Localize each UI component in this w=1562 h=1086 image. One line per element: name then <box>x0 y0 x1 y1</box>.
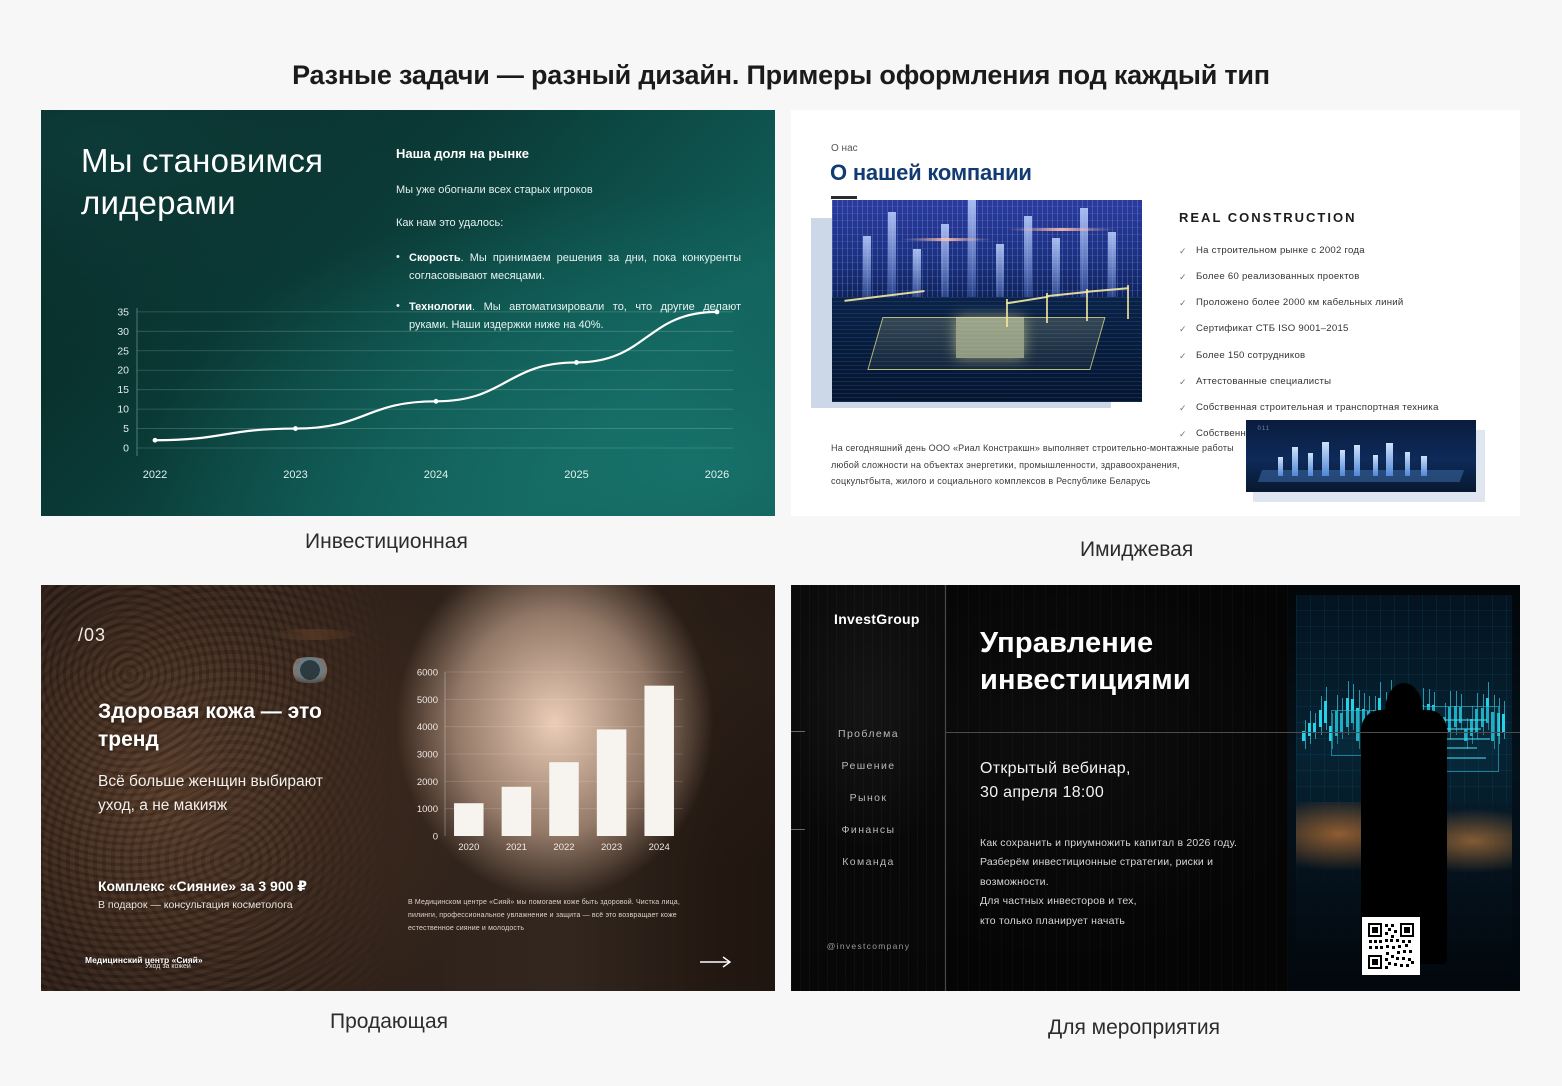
hero-building <box>941 224 949 305</box>
data-point <box>153 438 158 443</box>
slide2-hero-image-energy-network <box>832 200 1142 402</box>
slide4-brand-logo: InvestGroup <box>834 611 920 627</box>
bar-chart-svg: 0100020003000400050006000202020212022202… <box>405 660 690 870</box>
y-axis-tick-label: 5000 <box>417 695 438 706</box>
candle-body <box>1313 723 1316 732</box>
y-axis-tick-label: 20 <box>117 365 129 377</box>
slide4-event-time: Открытый вебинар, 30 апреля 18:00 <box>980 757 1131 805</box>
x-axis-tick-label: 2020 <box>458 842 479 853</box>
caption-event: Для мероприятия <box>1048 1016 1220 1040</box>
y-axis-tick-label: 1000 <box>417 804 438 815</box>
slide1-line-chart: 0510152025303520222023202420252026 <box>93 300 743 485</box>
hero-building <box>888 212 896 305</box>
slide4-nav-item[interactable]: Рынок <box>791 792 946 804</box>
slide4-tick-mark <box>791 829 805 830</box>
caption-image-corporate: Имиджевая <box>1080 538 1193 562</box>
qr-code-icon[interactable] <box>1362 917 1420 975</box>
page-title: Разные задачи — разный дизайн. Примеры о… <box>0 60 1562 91</box>
slide4-nav-list[interactable]: ПроблемаРешениеРынокФинансыКоманда <box>791 728 946 888</box>
bar <box>644 686 674 836</box>
slide3-paragraph: Всё больше женщин выбирают уход, а не ма… <box>98 770 333 819</box>
slide3-offer: Комплекс «Сияние» за 3 900 ₽ <box>98 878 307 895</box>
thumb-building <box>1373 455 1378 477</box>
presentation-examples-page: Разные задачи — разный дизайн. Примеры о… <box>0 0 1562 1086</box>
caption-investment: Инвестиционная <box>305 530 468 554</box>
thumb-code-label: 011 <box>1258 426 1271 432</box>
hero-building <box>1108 232 1116 305</box>
bar <box>597 729 627 836</box>
x-axis-tick-label: 2021 <box>506 842 527 853</box>
hero-building <box>996 244 1004 305</box>
slide2-thumbnail-city-model: 011 <box>1246 420 1476 492</box>
slide2-facts-column: REAL CONSTRUCTION На строительном рынке … <box>1179 210 1499 454</box>
slide3-section-number: /03 <box>78 625 106 646</box>
slide2-fact-item: Сертификат СТБ ISO 9001–2015 <box>1179 323 1499 336</box>
slide4-tick-mark <box>791 731 805 732</box>
slide2-fact-item: Проложено более 2000 км кабельных линий <box>1179 297 1499 310</box>
x-axis-tick-label: 2025 <box>564 469 588 481</box>
slide2-fact-list: На строительном рынке с 2002 годаБолее 6… <box>1179 245 1499 441</box>
thumb-building <box>1322 442 1329 477</box>
slide2-fact-item: Более 150 сотрудников <box>1179 350 1499 363</box>
slide2-title-rule <box>831 196 857 199</box>
slide2-paragraph: На сегодняшний день ООО «Риал Констракшн… <box>831 440 1241 490</box>
slide3-eyebrow-detail <box>269 629 355 640</box>
y-axis-tick-label: 25 <box>117 345 129 357</box>
slide1-bullet-lead: Скорость <box>409 252 461 264</box>
slide1-subtitle: Наша доля на рынке <box>396 146 741 161</box>
slide3-note: В Медицинском центре «Сияй» мы помогаем … <box>408 897 688 936</box>
slide4-nav-item[interactable]: Финансы <box>791 824 946 836</box>
y-axis-tick-label: 35 <box>117 306 129 318</box>
slide3-gift-note: В подарок — консультация косметолога <box>98 899 293 911</box>
thumb-building <box>1340 450 1345 476</box>
x-axis-tick-label: 2026 <box>705 469 729 481</box>
hero-pylon <box>1086 289 1088 321</box>
slide4-title: Управление инвестициями <box>980 625 1310 698</box>
y-axis-tick-label: 2000 <box>417 777 438 788</box>
thumb-building <box>1421 456 1427 476</box>
x-axis-tick-label: 2022 <box>553 842 574 853</box>
y-axis-tick-label: 0 <box>433 832 438 843</box>
hero-pylon <box>1006 299 1008 327</box>
y-axis-tick-label: 0 <box>123 443 129 455</box>
next-arrow-icon[interactable] <box>700 955 732 969</box>
y-axis-tick-label: 3000 <box>417 750 438 761</box>
thumb-building <box>1386 443 1393 476</box>
thumb-building <box>1405 452 1410 476</box>
x-axis-tick-label: 2023 <box>601 842 622 853</box>
thumb-building <box>1308 453 1313 476</box>
qr-code-svg <box>1366 921 1416 971</box>
data-point <box>574 360 579 365</box>
thumb-building <box>1354 445 1360 477</box>
y-axis-tick-label: 5 <box>123 423 129 435</box>
x-axis-tick-label: 2023 <box>283 469 307 481</box>
slide-image-corporate[interactable]: О нас О нашей компании <box>791 110 1520 516</box>
data-point <box>293 426 298 431</box>
slide3-eye-detail <box>284 657 336 683</box>
candle-body <box>1502 714 1505 731</box>
slide2-fact-item: Собственная строительная и транспортная … <box>1179 402 1499 415</box>
slide4-description: Как сохранить и приумножить капитал в 20… <box>980 834 1280 931</box>
candle-body <box>1308 723 1311 736</box>
slide2-fact-item: На строительном рынке с 2002 года <box>1179 245 1499 258</box>
slide1-line-2: Как нам это удалось: <box>396 216 741 231</box>
slide2-fact-item: Более 60 реализованных проектов <box>1179 271 1499 284</box>
x-axis-tick-label: 2022 <box>143 469 167 481</box>
candle-body <box>1319 710 1322 727</box>
hero-pylon <box>1127 285 1129 319</box>
slide3-bar-chart: 0100020003000400050006000202020212022202… <box>405 660 690 870</box>
x-axis-tick-label: 2024 <box>649 842 670 853</box>
thumb-base <box>1258 470 1465 482</box>
hero-building <box>863 236 871 305</box>
hero-core-building <box>956 317 1024 357</box>
thumb-building <box>1278 457 1283 476</box>
bar <box>454 803 484 836</box>
slide4-nav-item[interactable]: Решение <box>791 760 946 772</box>
slide2-kicker: О нас <box>831 143 858 154</box>
hero-pylon <box>1046 293 1048 323</box>
slide2-title: О нашей компании <box>830 160 1032 186</box>
slide2-brand-name: REAL CONSTRUCTION <box>1179 210 1499 225</box>
slide4-social-handle: @investcompany <box>791 941 946 951</box>
slide4-nav-item[interactable]: Проблема <box>791 728 946 740</box>
bar <box>549 762 579 836</box>
slide4-divider <box>946 732 1520 733</box>
x-axis-tick-label: 2024 <box>424 469 448 481</box>
data-point <box>715 309 720 314</box>
caption-selling: Продающая <box>330 1010 448 1034</box>
y-axis-tick-label: 4000 <box>417 722 438 733</box>
slide-event[interactable]: InvestGroup ПроблемаРешениеРынокФинансыК… <box>791 585 1520 991</box>
slide1-title: Мы становимся лидерами <box>81 140 401 223</box>
candle-body <box>1324 701 1327 722</box>
data-point <box>434 399 439 404</box>
slide3-heading: Здоровая кожа — это тренд <box>98 698 348 753</box>
y-axis-tick-label: 30 <box>117 326 129 338</box>
hero-building <box>968 200 976 305</box>
slide1-bullet-item: Скорость. Мы принимаем решения за дни, п… <box>396 250 741 286</box>
slide-investment[interactable]: Мы становимся лидерами Наша доля на рынк… <box>41 110 775 516</box>
bar <box>502 787 532 836</box>
line-chart-svg: 0510152025303520222023202420252026 <box>93 300 743 485</box>
slide4-nav-item[interactable]: Команда <box>791 856 946 868</box>
slide3-logo-subtitle: Уход за кожей <box>145 963 191 970</box>
y-axis-tick-label: 10 <box>117 404 129 416</box>
y-axis-tick-label: 6000 <box>417 668 438 679</box>
slide2-fact-item: Аттестованные специалисты <box>1179 376 1499 389</box>
thumb-building <box>1292 447 1298 476</box>
y-axis-tick-label: 15 <box>117 384 129 396</box>
slide1-line-1: Мы уже обогнали всех старых игроков <box>396 183 741 198</box>
